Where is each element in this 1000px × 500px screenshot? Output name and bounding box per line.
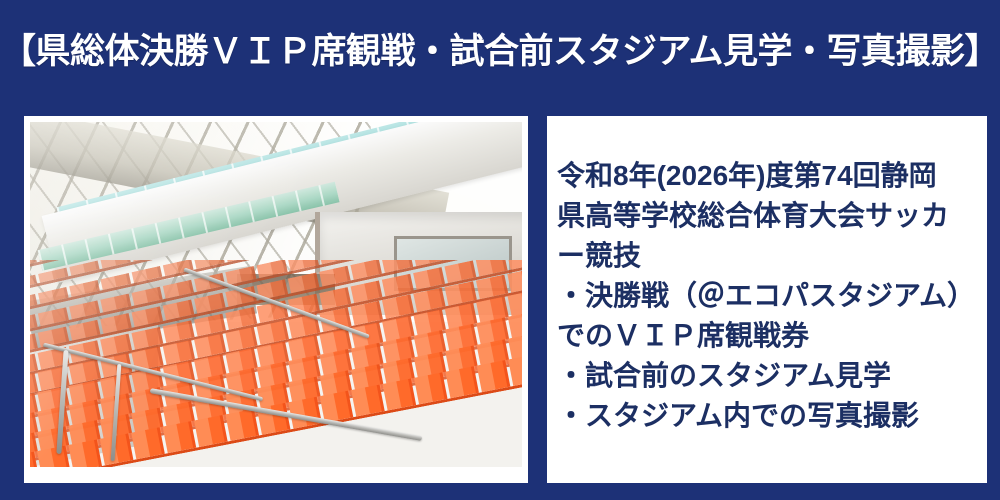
photo-card — [24, 116, 528, 483]
seating-bowl — [30, 260, 522, 467]
details-line: でのＶＩＰ席観戦券 — [557, 316, 977, 356]
details-line: ー競技 — [557, 236, 977, 276]
promo-banner: 【県総体決勝ＶＩＰ席観戦・試合前スタジアム見学・写真撮影】 令和8年(2026年… — [0, 0, 1000, 500]
header-bar: 【県総体決勝ＶＩＰ席観戦・試合前スタジアム見学・写真撮影】 — [0, 0, 1000, 102]
details-card: 令和8年(2026年)度第74回静岡 県高等学校総合体育大会サッカ ー競技 ・決… — [547, 116, 987, 483]
details-line: ・決勝戦（＠エコパスタジアム） — [557, 276, 977, 316]
details-line: 県高等学校総合体育大会サッカ — [557, 196, 977, 236]
details-line: 令和8年(2026年)度第74回静岡 — [557, 156, 977, 196]
stadium-photo — [30, 122, 522, 467]
details-text: 令和8年(2026年)度第74回静岡 県高等学校総合体育大会サッカ ー競技 ・決… — [557, 156, 977, 436]
details-line: ・試合前のスタジアム見学 — [557, 356, 977, 396]
details-line: ・スタジアム内での写真撮影 — [557, 396, 977, 436]
page-title: 【県総体決勝ＶＩＰ席観戦・試合前スタジアム見学・写真撮影】 — [1, 34, 999, 69]
